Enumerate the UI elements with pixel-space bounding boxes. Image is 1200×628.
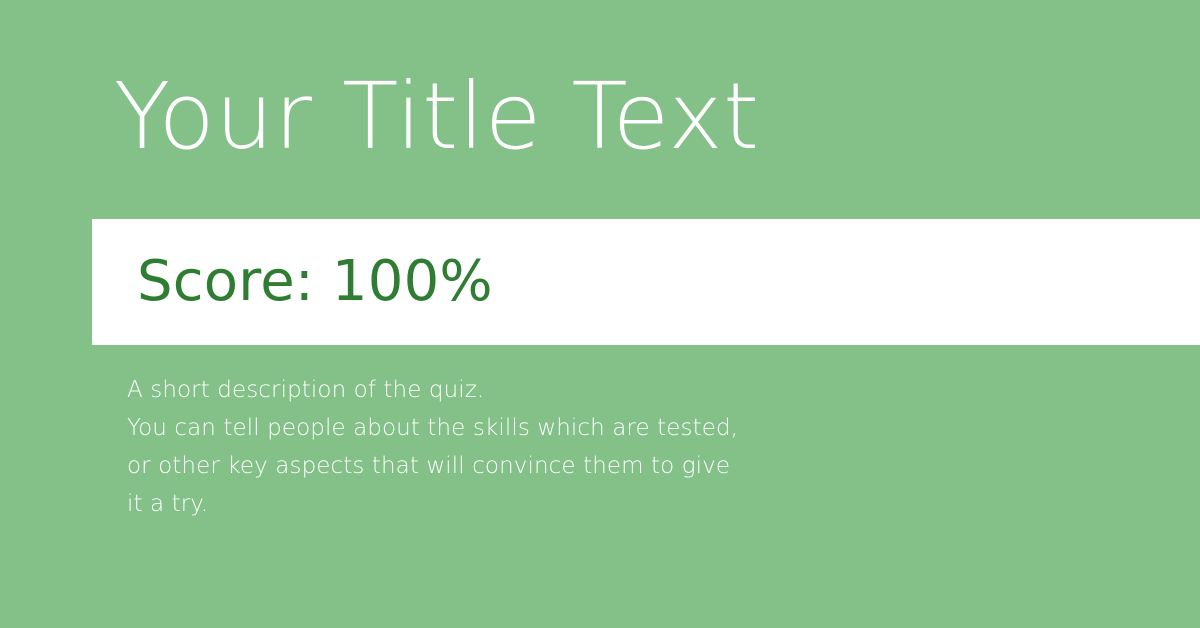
quiz-description: A short description of the quiz. You can… — [127, 371, 787, 523]
description-line: A short description of the quiz. — [127, 371, 787, 409]
description-line: or other key aspects that will convince … — [127, 447, 787, 485]
quiz-result-card: Your Title Text Score: 100% A short desc… — [0, 0, 1200, 628]
score-banner: Score: 100% — [92, 219, 1200, 345]
score-value: Score: 100% — [92, 254, 493, 310]
description-line: You can tell people about the skills whi… — [127, 409, 787, 447]
page-title: Your Title Text — [114, 66, 1114, 167]
description-line: it a try. — [127, 485, 787, 523]
